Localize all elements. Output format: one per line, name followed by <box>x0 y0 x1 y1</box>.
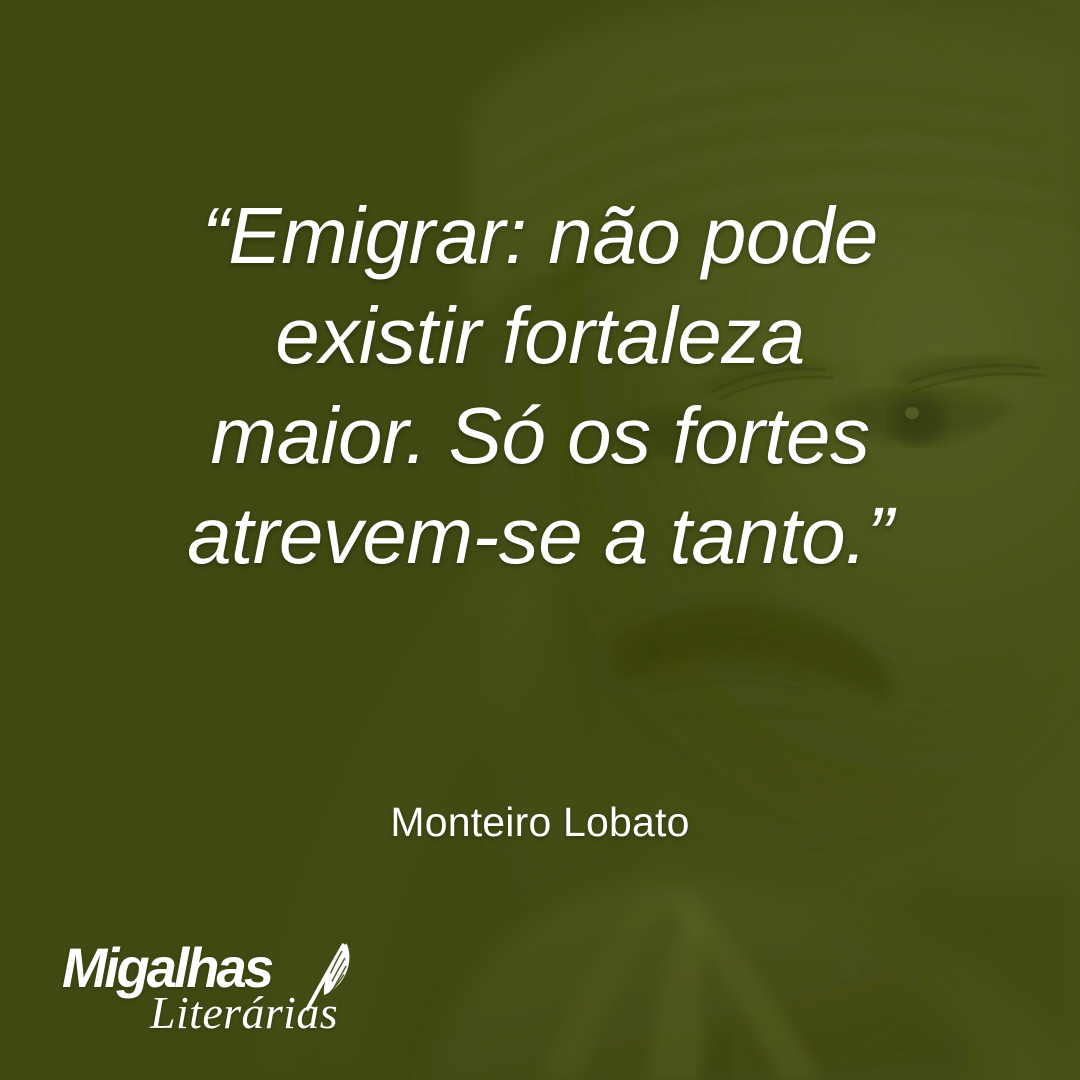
quote-line-4: atrevem-se a tanto.” <box>44 486 1036 586</box>
quote-text-block: “Emigrar: não pode existir fortaleza mai… <box>0 186 1080 586</box>
logo-wordmark-literarias: Literárias <box>150 990 338 1036</box>
quote-card: “Emigrar: não pode existir fortaleza mai… <box>0 0 1080 1080</box>
brand-logo[interactable]: Migalhas Literárias <box>62 936 362 1032</box>
logo-row: Migalhas Literárias <box>62 936 362 1032</box>
quote-line-3: maior. Só os fortes <box>44 386 1036 486</box>
quote-attribution: Monteiro Lobato <box>0 798 1080 846</box>
author-name: Monteiro Lobato <box>390 798 689 846</box>
quote-line-1: “Emigrar: não pode <box>44 186 1036 286</box>
quote-line-2: existir fortaleza <box>44 286 1036 386</box>
